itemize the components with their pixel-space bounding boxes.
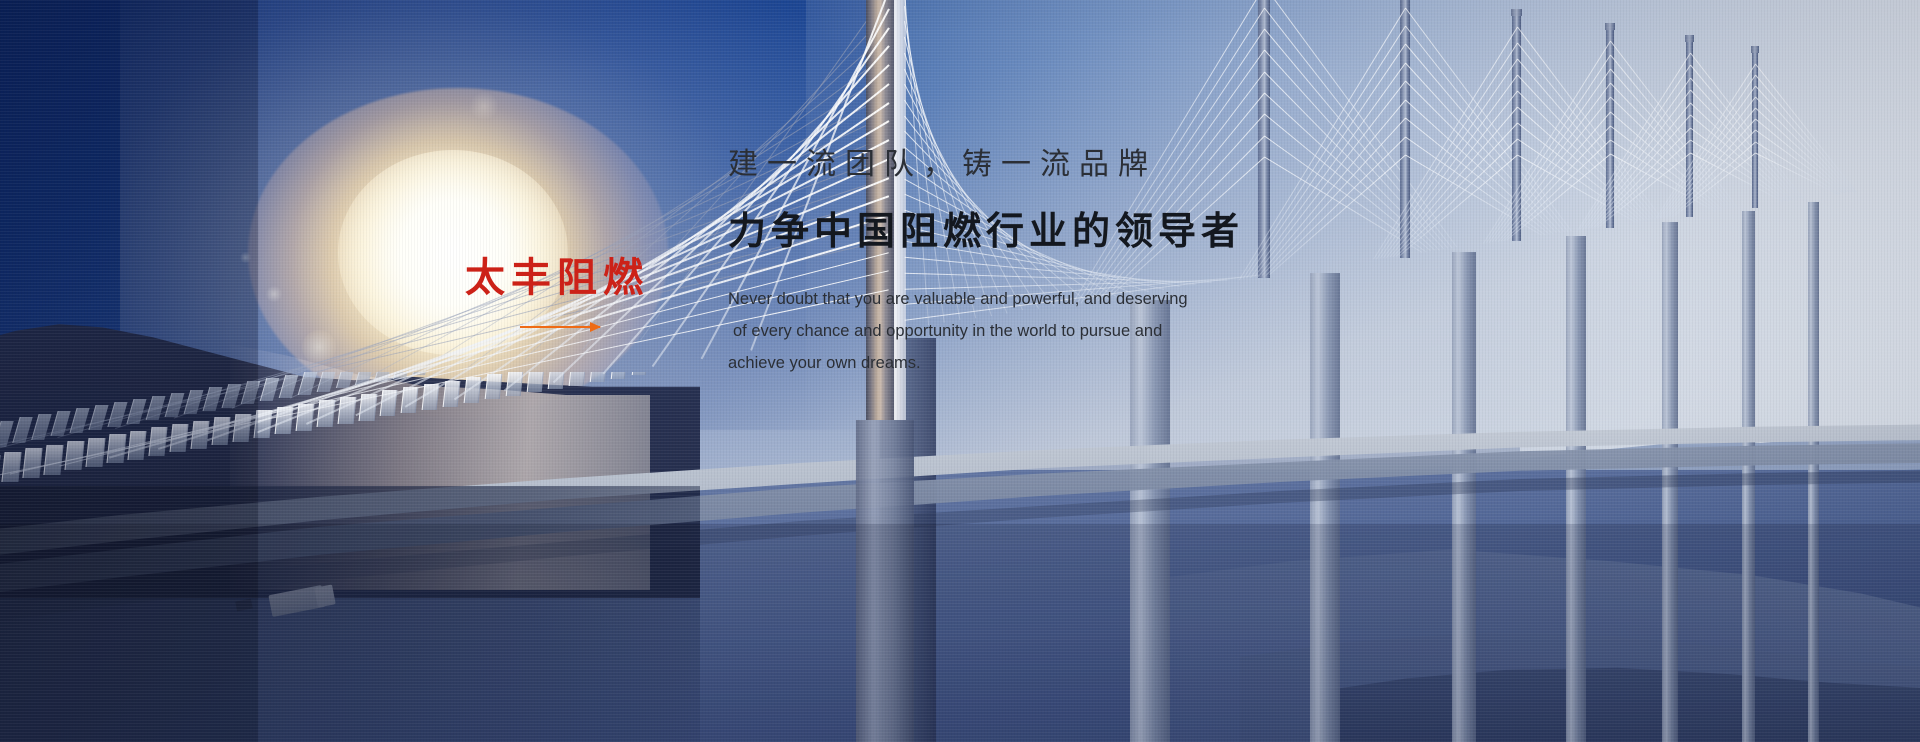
banner-tagline: 建一流团队，铸一流品牌 xyxy=(728,150,1428,180)
banner-copy: 建一流团队，铸一流品牌 力争中国阻燃行业的领导者 Never doubt tha… xyxy=(728,150,1428,380)
banner-subcopy: Never doubt that you are valuable and po… xyxy=(728,284,1198,380)
hero-banner: 太丰阻燃 建一流团队，铸一流品牌 力争中国阻燃行业的领导者 Never doub… xyxy=(0,0,1920,742)
brand-logo[interactable]: 太丰阻燃 xyxy=(465,258,645,328)
subcopy-line-3: achieve your own dreams. xyxy=(728,348,1198,380)
banner-headline: 力争中国阻燃行业的领导者 xyxy=(728,212,1428,250)
banner-content: 太丰阻燃 建一流团队，铸一流品牌 力争中国阻燃行业的领导者 Never doub… xyxy=(0,0,1920,742)
subcopy-line-1: Never doubt that you are valuable and po… xyxy=(728,284,1198,316)
subcopy-line-2: of every chance and opportunity in the w… xyxy=(728,316,1198,348)
arrow-right-icon xyxy=(520,326,600,328)
brand-name: 太丰阻燃 xyxy=(465,258,645,298)
